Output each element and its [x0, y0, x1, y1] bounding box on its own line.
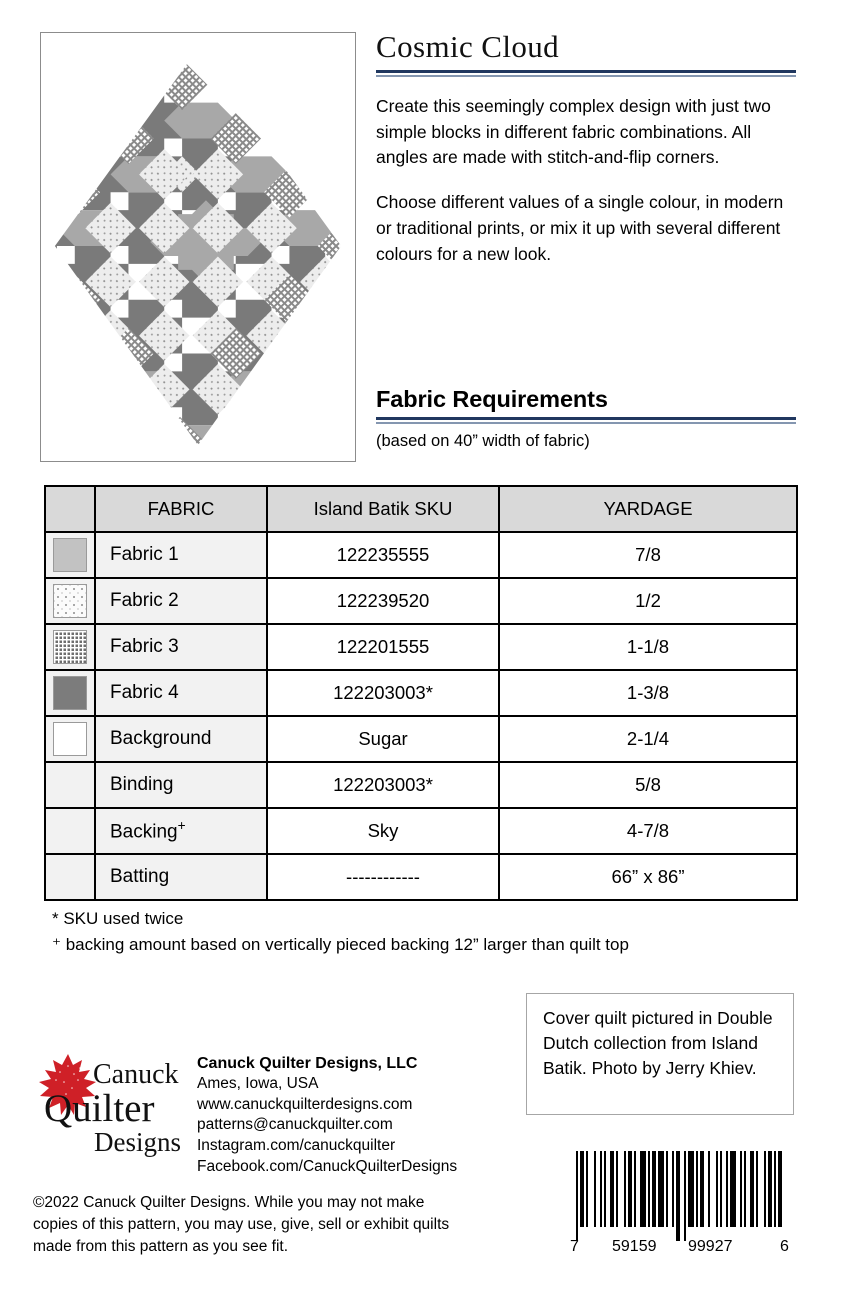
- barcode-digit-right: 6: [780, 1238, 789, 1255]
- yardage-cell: 7/8: [499, 532, 797, 578]
- column-header-fabric: FABRIC: [95, 486, 267, 532]
- fabric-4-swatch: [45, 670, 95, 716]
- contact-website[interactable]: www.canuckquilterdesigns.com: [197, 1095, 527, 1116]
- fabric-1-swatch: [45, 532, 95, 578]
- upc-barcode: 7 59159 99927 6: [566, 1147, 798, 1255]
- table-row: Fabric 11222355557/8: [45, 532, 797, 578]
- sku-cell: ------------: [267, 854, 499, 900]
- fabric-requirements-subheading: (based on 40” width of fabric): [376, 432, 796, 451]
- fabric-requirements-table: FABRIC Island Batik SKU YARDAGE Fabric 1…: [44, 485, 798, 901]
- barcode-digits-group-1: 59159: [612, 1238, 657, 1255]
- sku-cell: Sky: [267, 808, 499, 854]
- yardage-cell: 4-7/8: [499, 808, 797, 854]
- quilt-diagram: [41, 33, 355, 461]
- cover-note-text: Cover quilt pictured in Double Dutch col…: [543, 1008, 773, 1078]
- yardage-cell: 5/8: [499, 762, 797, 808]
- fabric-3-swatch: [45, 624, 95, 670]
- sku-cell: 122201555: [267, 624, 499, 670]
- yardage-cell: 1-3/8: [499, 670, 797, 716]
- sku-cell: 122203003*: [267, 762, 499, 808]
- binding-swatch: [45, 762, 95, 808]
- table-header-row: FABRIC Island Batik SKU YARDAGE: [45, 486, 797, 532]
- barcode-digit-left: 7: [570, 1238, 579, 1255]
- intro-paragraph-2: Choose different values of a single colo…: [376, 190, 784, 267]
- title-divider: [376, 70, 796, 77]
- fabric-requirements-divider: [376, 417, 796, 424]
- fabric-2-swatch: [45, 578, 95, 624]
- fabric-swatch: [53, 676, 87, 710]
- column-header-yardage: YARDAGE: [499, 486, 797, 532]
- title-block: Cosmic Cloud: [376, 30, 796, 77]
- page-title: Cosmic Cloud: [376, 30, 796, 64]
- column-header-swatch: [45, 486, 95, 532]
- sku-cell: Sugar: [267, 716, 499, 762]
- table-row: Fabric 31222015551-1/8: [45, 624, 797, 670]
- fabric-name-cell: Backing+: [95, 808, 267, 854]
- yardage-cell: 66” x 86”: [499, 854, 797, 900]
- column-header-sku: Island Batik SKU: [267, 486, 499, 532]
- divider-line-light: [376, 75, 796, 77]
- copyright-line-1: ©2022 Canuck Quilter Designs. While you …: [33, 1192, 533, 1214]
- table-row: Fabric 4122203003*1-3/8: [45, 670, 797, 716]
- copyright-line-2: copies of this pattern, you may use, giv…: [33, 1214, 533, 1236]
- contact-instagram[interactable]: Instagram.com/canuckquilter: [197, 1136, 527, 1157]
- fabric-requirements-header: Fabric Requirements (based on 40” width …: [376, 386, 796, 451]
- fabric-swatch: [53, 538, 87, 572]
- logo-line-quilter: Quilter: [44, 1087, 154, 1130]
- contact-location: Ames, Iowa, USA: [197, 1074, 527, 1095]
- fabric-name-cell: Binding: [95, 762, 267, 808]
- copyright-notice: ©2022 Canuck Quilter Designs. While you …: [33, 1192, 533, 1258]
- fabric-name-cell: Fabric 4: [95, 670, 267, 716]
- fabric-name-cell: Batting: [95, 854, 267, 900]
- cover-quilt-note: Cover quilt pictured in Double Dutch col…: [526, 993, 794, 1115]
- sku-cell: 122235555: [267, 532, 499, 578]
- contact-info: Canuck Quilter Designs, LLC Ames, Iowa, …: [197, 1053, 527, 1177]
- contact-facebook[interactable]: Facebook.com/CanuckQuilterDesigns: [197, 1157, 527, 1178]
- footnote-1: * SKU used twice: [52, 906, 792, 932]
- intro-paragraph-1: Create this seemingly complex design wit…: [376, 94, 784, 171]
- divider-line-dark: [376, 417, 796, 420]
- divider-line-light: [376, 422, 796, 424]
- table-footnotes: * SKU used twice ⁺ backing amount based …: [52, 906, 792, 957]
- barcode-artwork: 7 59159 99927 6: [566, 1147, 798, 1255]
- quilt-cover-image: [40, 32, 356, 462]
- table-row: Binding122203003*5/8: [45, 762, 797, 808]
- yardage-cell: 1/2: [499, 578, 797, 624]
- sku-cell: 122203003*: [267, 670, 499, 716]
- table-row: Backing+Sky4-7/8: [45, 808, 797, 854]
- fabric-name-cell: Fabric 2: [95, 578, 267, 624]
- backing-swatch: [45, 808, 95, 854]
- intro-text: Create this seemingly complex design wit…: [376, 94, 784, 267]
- barcode-digits-group-2: 99927: [688, 1238, 733, 1255]
- table-body: Fabric 11222355557/8Fabric 21222395201/2…: [45, 532, 797, 900]
- fabric-swatch: [53, 584, 87, 618]
- fabric-requirements-heading: Fabric Requirements: [376, 386, 796, 413]
- fabric-name-cell: Fabric 1: [95, 532, 267, 578]
- logo-line-designs: Designs: [94, 1127, 181, 1157]
- divider-line-dark: [376, 70, 796, 73]
- footnote-marker: +: [178, 818, 186, 833]
- sku-cell: 122239520: [267, 578, 499, 624]
- contact-company: Canuck Quilter Designs, LLC: [197, 1053, 527, 1074]
- fabric-swatch: [53, 722, 87, 756]
- logo-line-canuck: Canuck: [93, 1059, 179, 1090]
- contact-email[interactable]: patterns@canuckquilter.com: [197, 1115, 527, 1136]
- yardage-cell: 1-1/8: [499, 624, 797, 670]
- fabric-swatch: [53, 630, 87, 664]
- table-row: Batting------------66” x 86”: [45, 854, 797, 900]
- footnote-2: ⁺ backing amount based on vertically pie…: [52, 932, 792, 958]
- fabric-name-cell: Fabric 3: [95, 624, 267, 670]
- batting-swatch: [45, 854, 95, 900]
- canuck-quilter-logo: Canuck Quilter Designs: [38, 1048, 196, 1158]
- background-swatch: [45, 716, 95, 762]
- yardage-cell: 2-1/4: [499, 716, 797, 762]
- table-row: Fabric 21222395201/2: [45, 578, 797, 624]
- fabric-name-cell: Background: [95, 716, 267, 762]
- table-row: BackgroundSugar2-1/4: [45, 716, 797, 762]
- logo-artwork: Canuck Quilter Designs: [38, 1048, 196, 1158]
- copyright-line-3: made from this pattern as you see fit.: [33, 1236, 533, 1258]
